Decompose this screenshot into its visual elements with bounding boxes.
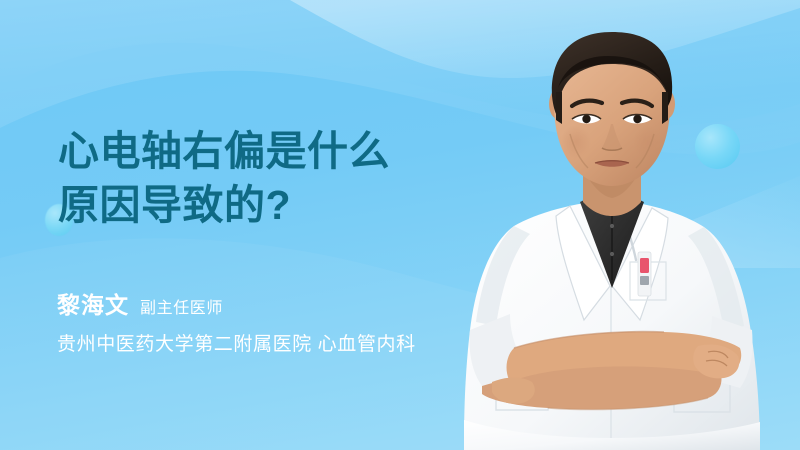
inner-shirt <box>580 193 644 288</box>
nose <box>602 124 622 151</box>
coat-hem <box>464 420 760 450</box>
eyebrow-left <box>572 101 602 106</box>
headline-title: 心电轴右偏是什么 原因导致的? <box>58 124 488 232</box>
eye-left <box>572 115 601 124</box>
mouth <box>595 160 629 167</box>
doctor-name-row: 黎海文 副主任医师 <box>57 286 517 320</box>
headline-line-2: 原因导致的? <box>58 178 488 232</box>
wave-right-diagonal <box>575 176 800 268</box>
doctor-name: 黎海文 <box>57 286 129 320</box>
eye-right <box>623 115 652 124</box>
wave-upper-left <box>0 0 800 126</box>
video-cover-card: 心电轴右偏是什么 原因导致的? 黎海文 副主任医师 贵州中医药大学第二附属医院 … <box>0 0 800 450</box>
doctor-portrait <box>452 30 772 450</box>
doctor-affiliation: 贵州中医药大学第二附属医院 心血管内科 <box>57 329 517 356</box>
eyebrow-right <box>622 101 652 106</box>
headline-line-1: 心电轴右偏是什么 <box>58 124 488 178</box>
bubble-circle-right <box>695 124 740 169</box>
doctor-title: 副主任医师 <box>140 294 223 318</box>
head <box>552 32 672 186</box>
doctor-info-block: 黎海文 副主任医师 贵州中医药大学第二附属医院 心血管内科 <box>57 286 517 356</box>
wave-top-right <box>290 0 800 78</box>
neck <box>583 156 641 216</box>
hair <box>552 32 672 116</box>
ear-right <box>657 89 675 119</box>
ear-left <box>549 89 567 119</box>
